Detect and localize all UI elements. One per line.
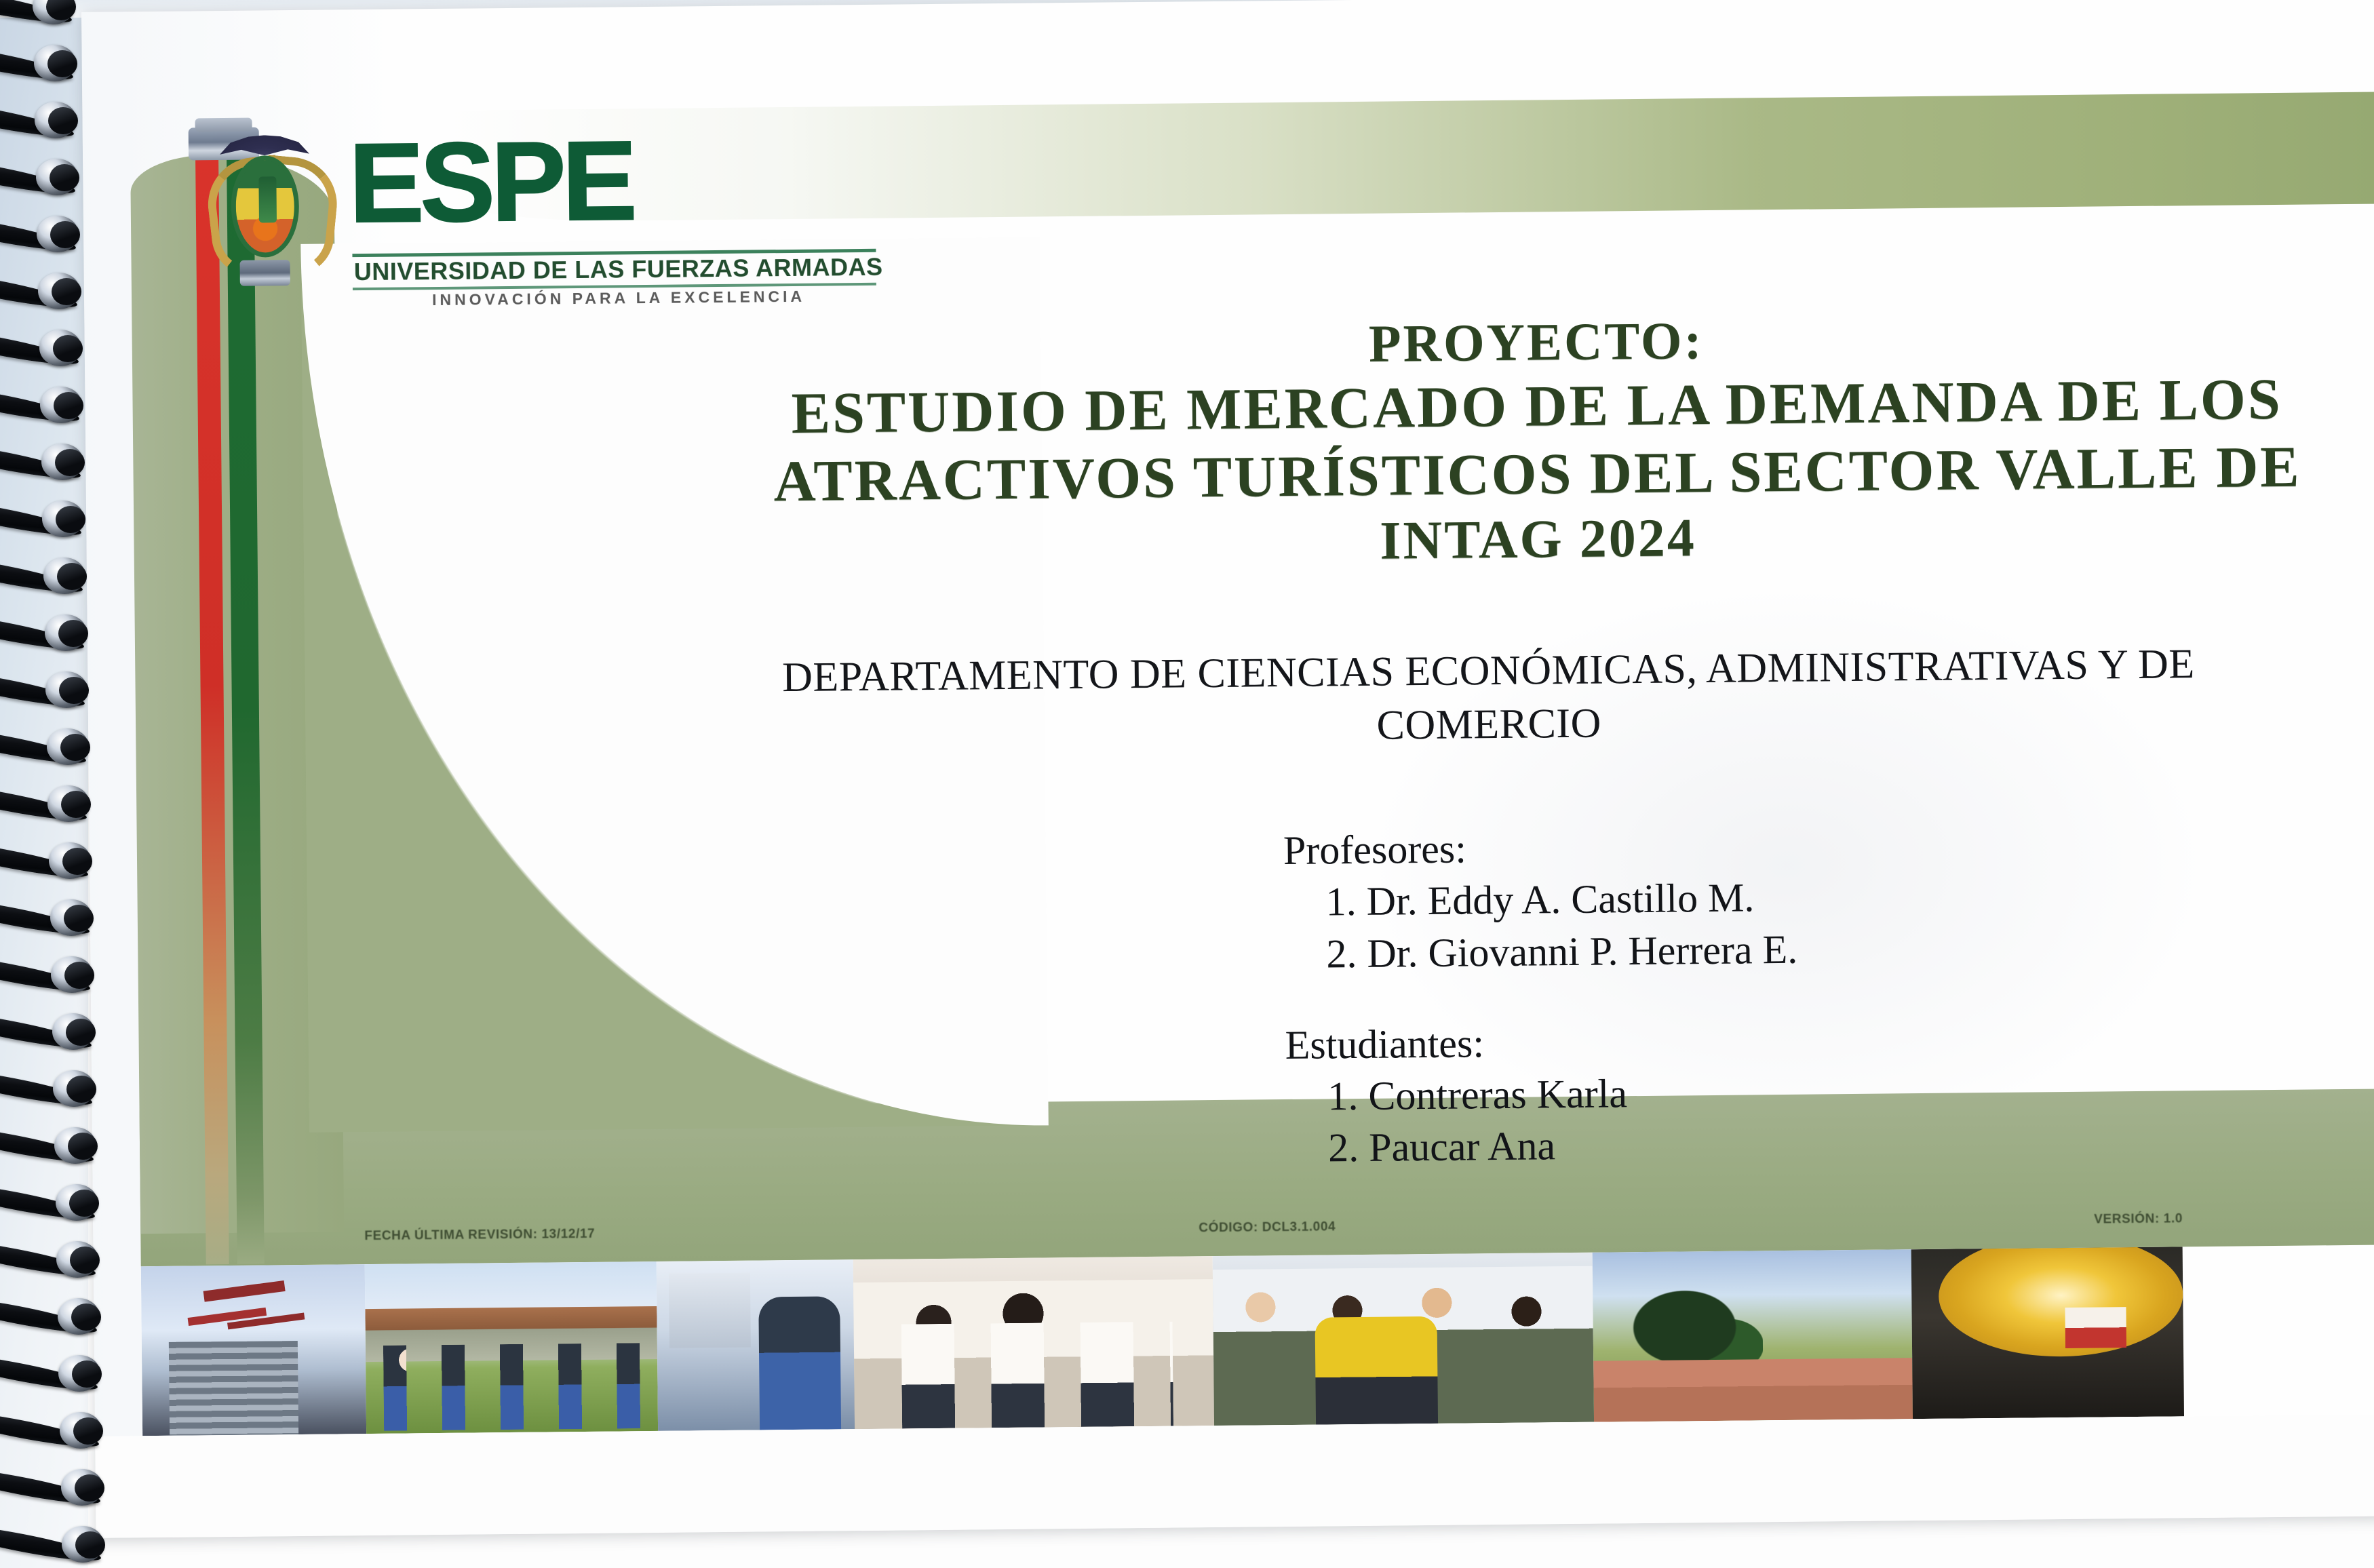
binding-coil <box>0 217 87 252</box>
logo-tagline-primary: UNIVERSIDAD DE LAS FUERZAS ARMADAS <box>353 253 882 286</box>
photo-laboratory-students <box>853 1256 1214 1429</box>
photo-collage-strip <box>141 1244 2374 1436</box>
binding-coil <box>0 844 99 879</box>
binding-coil <box>0 730 97 765</box>
photo-flags-and-building <box>141 1264 366 1436</box>
people-block: Profesores: 1. Dr. Eddy A. Castillo M. 2… <box>1283 816 2304 1175</box>
photo-yellow-espe-sign <box>1911 1247 2184 1419</box>
binding-coil <box>0 46 84 81</box>
page-bottom-margin <box>95 1414 2374 1537</box>
paper-page: FECHA ÚLTIMA REVISIÓN: 13/12/17 CÓDIGO: … <box>81 0 2374 1538</box>
professor-item: 1. Dr. Eddy A. Castillo M. <box>1283 867 2301 928</box>
binding-coil <box>0 1413 110 1449</box>
footer-revision-date: FECHA ÚLTIMA REVISIÓN: 13/12/17 <box>364 1227 595 1244</box>
binding-coil <box>0 1072 103 1107</box>
binding-coil <box>0 1015 102 1050</box>
student-item: 1. Contreras Karla <box>1285 1061 2303 1122</box>
binding-coil <box>0 1527 112 1563</box>
photo-person-by-wall <box>657 1259 855 1431</box>
espe-wordmark: ESPE UNIVERSIDAD DE LAS FUERZAS ARMADAS … <box>349 123 893 298</box>
ecuador-coat-of-arms-icon <box>205 134 326 288</box>
department-block: DEPARTAMENTO DE CIENCIAS ECONÓMICAS, ADM… <box>650 636 2327 760</box>
binding-coil <box>0 274 88 309</box>
binding-coil <box>0 103 85 138</box>
photo-campus-people-on-lawn <box>365 1261 658 1434</box>
binding-coil <box>0 502 92 537</box>
binding-coil <box>0 1185 106 1221</box>
binding-coil <box>0 673 96 708</box>
professors-heading: Profesores: <box>1283 816 2301 876</box>
binding-coil <box>0 1129 104 1164</box>
student-item: 2. Paucar Ana <box>1286 1113 2304 1175</box>
photo-seated-group <box>1213 1253 1594 1426</box>
espe-acronym: ESPE <box>349 123 893 241</box>
professor-item: 2. Dr. Giovanni P. Herrera E. <box>1284 918 2302 980</box>
binding-coil <box>0 901 100 936</box>
espe-logo: ESPE UNIVERSIDAD DE LAS FUERZAS ARMADAS … <box>205 128 898 304</box>
binding-coil <box>0 958 101 993</box>
photo-campus-trees <box>1593 1249 1913 1422</box>
binding-coil <box>0 1299 108 1335</box>
binding-coil <box>0 445 92 480</box>
binding-coil <box>0 1242 106 1278</box>
title-block: PROYECTO: ESTUDIO DE MERCADO DE LA DEMAN… <box>600 302 2374 580</box>
accent-stripe-cap-top <box>195 118 252 132</box>
spiral-binding <box>0 0 96 1568</box>
footer-version: VERSIÓN: 1.0 <box>2094 1211 2183 1227</box>
photographed-cover-page: FECHA ÚLTIMA REVISIÓN: 13/12/17 CÓDIGO: … <box>0 0 2374 1568</box>
binding-coil <box>0 388 90 423</box>
binding-coil <box>0 331 90 366</box>
footer-code: CÓDIGO: DCL3.1.004 <box>1199 1219 1336 1236</box>
binding-coil <box>0 787 98 822</box>
binding-coil <box>0 1356 109 1392</box>
binding-coil <box>0 616 95 651</box>
binding-coil <box>0 0 83 24</box>
binding-coil <box>0 1470 111 1506</box>
students-heading: Estudiantes: <box>1285 1010 2303 1070</box>
binding-coil <box>0 559 94 594</box>
binding-coil <box>0 160 86 195</box>
